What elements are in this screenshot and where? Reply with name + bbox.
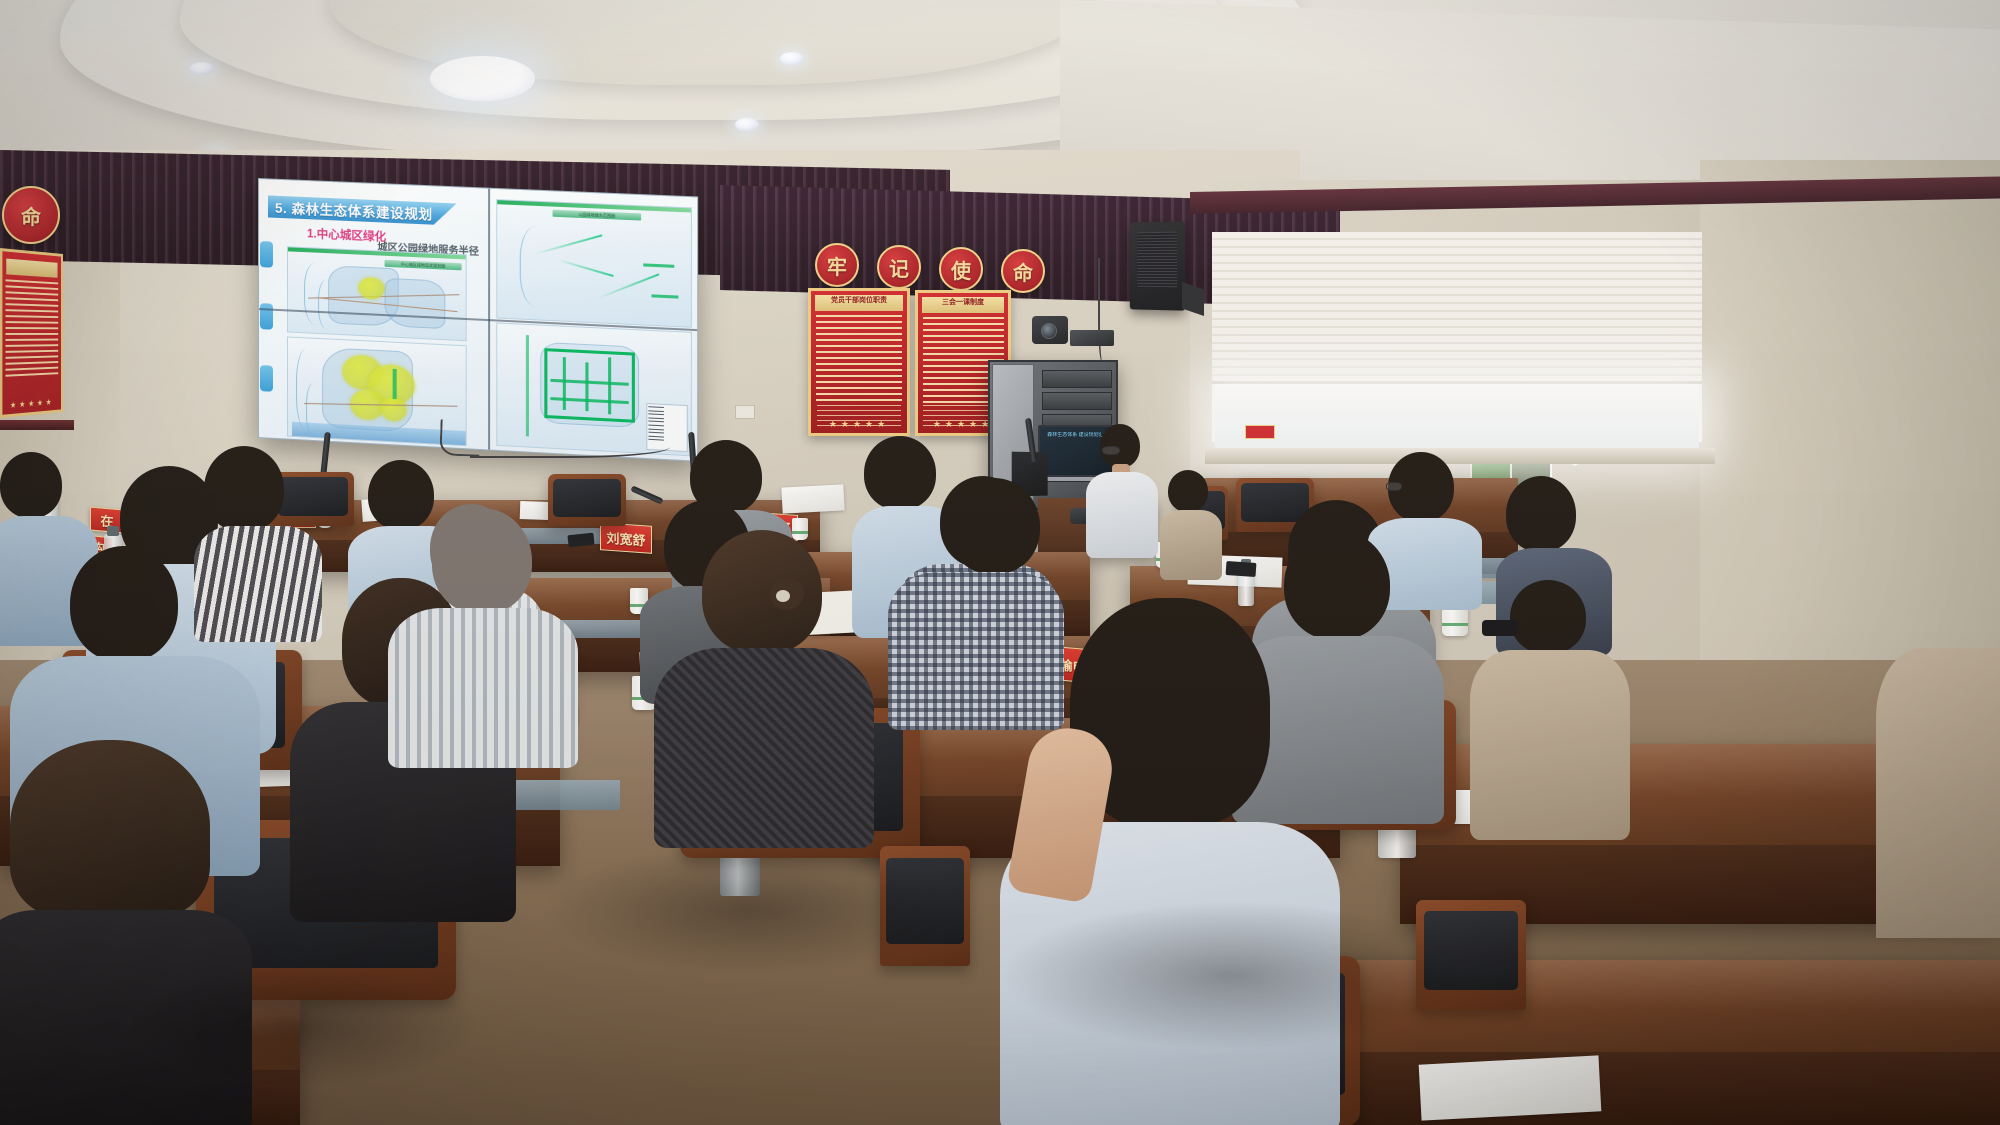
chair-pad (553, 479, 620, 516)
rack-unit[interactable] (1042, 370, 1112, 388)
speaker-cable (1098, 258, 1110, 364)
torso-shirt (194, 526, 322, 642)
green-corridor (526, 335, 529, 436)
head (432, 508, 532, 614)
wall-poster-1: 党员干部岗位职责 ★★★★★ (808, 288, 910, 436)
head (0, 452, 62, 518)
wall-medallion-2: 记 (877, 245, 921, 289)
floor-shadow (1000, 900, 1460, 1050)
torso-shirt (1086, 472, 1158, 558)
medallion-char: 记 (889, 253, 909, 282)
poster-stars: ★★★★★ (811, 419, 907, 430)
video-wall-display[interactable]: 5. 森林生态体系建设规划 1.中心城区绿化 城区公园绿地服务半径 中心城区绿地… (258, 178, 698, 462)
slide-title: 5. 森林生态体系建设规划 (275, 197, 433, 224)
green-corridor (643, 263, 674, 267)
head (1506, 476, 1576, 552)
map-card-label: 公园绿地服务范围图 (553, 210, 642, 221)
left-wall-rail (0, 420, 74, 430)
medallion-char: 命 (21, 201, 41, 230)
poster-text-lines (816, 315, 902, 403)
head (948, 478, 1040, 574)
green-corridor (585, 362, 588, 411)
medallion-char: 命 (1013, 257, 1033, 286)
head (864, 436, 936, 510)
wall-outlet (735, 405, 755, 419)
green-network-line (557, 259, 613, 277)
green-corridor (393, 369, 397, 399)
window-blinds[interactable] (1212, 232, 1702, 384)
downlight-icon (780, 52, 804, 65)
window-daylight (1215, 384, 1699, 454)
floor-shadow (120, 966, 480, 1086)
torso-shirt (1470, 650, 1630, 840)
display-cable (470, 436, 670, 458)
mobile-phone[interactable] (1226, 561, 1257, 577)
poster-stars: ★★★★★ (2, 396, 61, 411)
bottle-cap (107, 526, 119, 536)
torso-shirt (888, 572, 1064, 730)
poster-text-lines (5, 279, 58, 380)
wristwatch (1482, 620, 1518, 636)
head (368, 460, 434, 530)
head (10, 740, 210, 920)
window-sill (1205, 448, 1715, 464)
downlight-icon (735, 118, 759, 131)
head (1510, 580, 1586, 654)
rack-unit[interactable] (1042, 392, 1112, 410)
wall-medallion-3: 使 (939, 247, 983, 291)
green-corridor (563, 357, 566, 410)
document-paper (781, 484, 844, 513)
head (1168, 470, 1208, 512)
city-area-polygon (385, 278, 446, 329)
green-ring-road (632, 352, 635, 422)
hair-clip (776, 590, 790, 602)
green-ring-road (544, 348, 547, 418)
paper-cup (792, 518, 808, 540)
head (1284, 530, 1390, 640)
chair-pad (278, 477, 349, 516)
river-line (318, 279, 340, 330)
poster-title-band (6, 258, 58, 278)
ceiling-panel-light (430, 56, 535, 101)
document-paper (1419, 1055, 1602, 1120)
wall-medallion-partial: 命 (2, 186, 60, 244)
green-service-radius-blob (381, 396, 407, 422)
head (204, 446, 284, 532)
map-card-upper: 中心城区绿地现状规划图 (287, 246, 467, 341)
chair (548, 474, 626, 526)
medallion-char: 牢 (827, 251, 847, 280)
slide-title-banner: 5. 森林生态体系建设规划 (268, 195, 457, 225)
green-network-line (598, 273, 659, 299)
torso-shirt (388, 608, 578, 768)
slide-side-tab (260, 365, 273, 392)
left-wall-poster: ★★★★★ (0, 248, 63, 418)
green-corridor (651, 294, 678, 298)
exit-sign (1245, 425, 1275, 439)
green-corridor (608, 357, 611, 414)
ceiling-speaker (1130, 221, 1185, 310)
head (702, 530, 822, 654)
wall-medallion-1: 牢 (815, 243, 859, 287)
wall-medallion-4: 命 (1001, 249, 1045, 293)
torso-blouse (654, 648, 874, 848)
eyeglasses (1102, 446, 1120, 455)
conference-room-photo: ★★★★★ 命 5. 森林生态体系建设规划 1.中心城区绿化 城区公园绿地服务半… (0, 0, 2000, 1125)
river-line (520, 225, 561, 308)
camera-mount (1070, 330, 1114, 346)
poster-title: 三会一课制度 (922, 297, 1005, 312)
map-card-network-upper: 公园绿地服务范围图 (496, 199, 692, 328)
green-service-radius-blob (358, 277, 384, 300)
head (70, 546, 178, 662)
torso-shirt (1876, 648, 2000, 938)
nameplate-text: 刘宽舒 (606, 527, 645, 549)
floor-shadow (540, 845, 960, 975)
medallion-char: 使 (951, 255, 971, 284)
eyeglasses (1386, 482, 1402, 491)
conference-camera-icon (1032, 316, 1068, 344)
downlight-icon (190, 62, 214, 75)
chair (272, 472, 354, 526)
map-card-label: 中心城区绿地现状规划图 (385, 260, 462, 271)
slide-side-tab (260, 241, 273, 268)
slide-side-tab (260, 303, 273, 330)
nameplate-liu: 刘宽舒 (600, 522, 652, 554)
slide-subtitle: 1.中心城区绿化 (307, 225, 386, 245)
torso-shirt (1160, 510, 1222, 580)
chair-pad (1241, 483, 1308, 522)
poster-title: 党员干部岗位职责 (815, 295, 903, 311)
